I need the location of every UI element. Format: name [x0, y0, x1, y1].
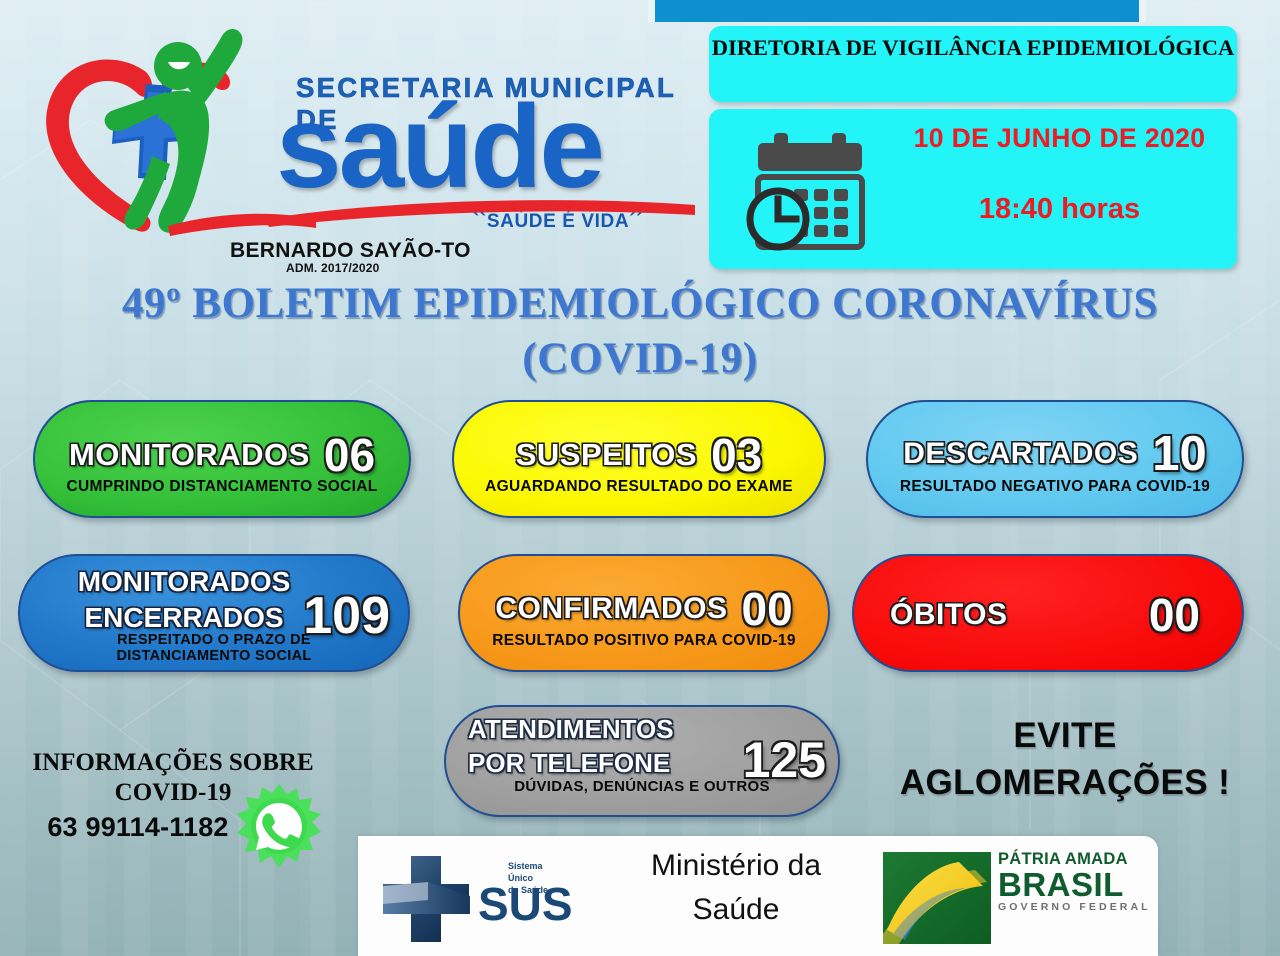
stat-label-monitorados: MONITORADOS [69, 437, 310, 473]
sus-sub-line3: de Saúde [508, 884, 548, 896]
stat-label-confirmados: CONFIRMADOS [495, 592, 727, 626]
calendar-clock-icon [742, 131, 878, 253]
footer-bar: SUS Sistema Único de Saúde Ministério da… [358, 836, 1158, 956]
stat-label-line2: ENCERRADOS [50, 600, 318, 636]
stat-label-suspeitos: SUSPEITOS [516, 437, 697, 473]
stat-label-atendimentos: ATENDIMENTOS POR TELEFONE [468, 713, 750, 781]
logo-red-swoosh [255, 175, 725, 235]
top-blue-bar [648, 0, 1146, 22]
stat-card-obitos: ÓBITOS 00 [852, 554, 1244, 672]
warning-message: EVITE AGLOMERAÇÕES ! [860, 712, 1270, 807]
stat-subtitle-confirmados: RESULTADO POSITIVO PARA COVID-19 [460, 632, 828, 649]
whatsapp-icon[interactable] [233, 780, 325, 872]
sus-logo-icon: SUS [374, 848, 604, 948]
bulletin-time: 18:40 horas [887, 193, 1232, 226]
ministry-line1: Ministério da [616, 844, 856, 888]
stat-label-line1: MONITORADOS [50, 564, 318, 600]
stat-subtitle-descartados: RESULTADO NEGATIVO PARA COVID-19 [868, 478, 1242, 495]
sus-subtitle: Sistema Único de Saúde [508, 860, 548, 896]
department-title: DIRETORIA DE VIGILÂNCIA EPIDEMIOLÓGICA [709, 26, 1237, 61]
department-box: DIRETORIA DE VIGILÂNCIA EPIDEMIOLÓGICA [709, 26, 1237, 102]
sus-sub-line1: Sistema [508, 860, 548, 872]
stat-card-monitorados-encerrados: MONITORADOS ENCERRADOS 109 RESPEITADO O … [18, 554, 410, 672]
stat-subtitle-monitorados: CUMPRINDO DISTANCIAMENTO SOCIAL [35, 478, 409, 495]
stat-card-confirmados: CONFIRMADOS 00 RESULTADO POSITIVO PARA C… [458, 554, 830, 672]
stat-card-descartados: DESCARTADOS 10 RESULTADO NEGATIVO PARA C… [866, 400, 1244, 518]
page-title-line2: (COVID-19) [0, 331, 1280, 386]
contact-phone[interactable]: 63 99114-1182 [18, 812, 258, 843]
stat-card-atendimentos-telefone: ATENDIMENTOS POR TELEFONE 125 DÚVIDAS, D… [444, 705, 840, 817]
stat-subtitle-suspeitos: AGUARDANDO RESULTADO DO EXAME [454, 478, 824, 495]
ministry-of-health-label: Ministério da Saúde [616, 844, 856, 931]
sus-sub-line2: Único [508, 872, 548, 884]
brasil-line2: BRASIL [998, 869, 1151, 901]
contact-line1: INFORMAÇÕES SOBRE [18, 748, 328, 778]
page-title: 49º BOLETIM EPIDEMIOLÓGICO CORONAVÍRUS (… [0, 276, 1280, 386]
stat-value-descartados: 10 [1152, 426, 1207, 482]
warning-line1: EVITE [860, 712, 1270, 759]
stat-value-suspeitos: 03 [711, 428, 762, 482]
date-time-box: 10 DE JUNHO DE 2020 18:40 horas [709, 109, 1237, 269]
stat-subtitle-line1: RESPEITADO O PRAZO DE [20, 632, 408, 648]
stat-subtitle-monitorados-encerrados: RESPEITADO O PRAZO DE DISTANCIAMENTO SOC… [20, 632, 408, 664]
stat-subtitle-atendimentos: DÚVIDAS, DENÚNCIAS E OUTROS [446, 779, 838, 796]
brasil-wordmark: PÁTRIA AMADA BRASIL GOVERNO FEDERAL [998, 850, 1151, 913]
ministry-line2: Saúde [616, 888, 856, 932]
stat-label-line2: POR TELEFONE [468, 747, 750, 781]
stat-label-obitos: ÓBITOS [890, 598, 1007, 632]
stat-value-obitos: 00 [1149, 588, 1200, 642]
stat-value-monitorados: 06 [324, 428, 375, 482]
brasil-flag-icon [883, 852, 991, 944]
warning-line2: AGLOMERAÇÕES ! [860, 759, 1270, 806]
brasil-line3: GOVERNO FEDERAL [998, 901, 1151, 913]
logo-administration: ADM. 2017/2020 [286, 261, 380, 275]
stat-card-suspeitos: SUSPEITOS 03 AGUARDANDO RESULTADO DO EXA… [452, 400, 826, 518]
stat-label-line1: ATENDIMENTOS [468, 713, 750, 747]
stat-value-confirmados: 00 [741, 582, 792, 636]
stat-subtitle-line2: DISTANCIAMENTO SOCIAL [20, 648, 408, 664]
page-title-line1: 49º BOLETIM EPIDEMIOLÓGICO CORONAVÍRUS [0, 276, 1280, 331]
stat-label-descartados: DESCARTADOS [903, 437, 1138, 471]
top-bar-tick-right [1139, 0, 1146, 22]
stat-card-monitorados: MONITORADOS 06 CUMPRINDO DISTANCIAMENTO … [33, 400, 411, 518]
bulletin-date: 10 DE JUNHO DE 2020 [887, 123, 1232, 154]
logo-city: BERNARDO SAYÃO-TO [230, 239, 471, 263]
stat-label-monitorados-encerrados: MONITORADOS ENCERRADOS [50, 564, 318, 636]
